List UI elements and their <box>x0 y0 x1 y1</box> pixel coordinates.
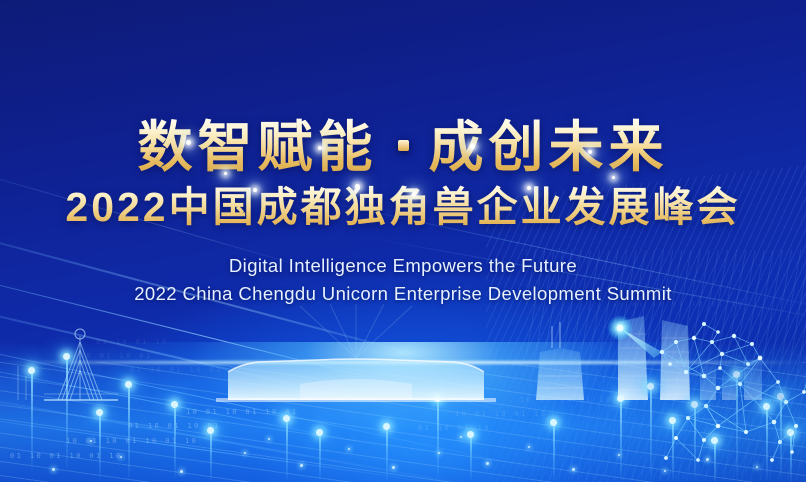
ground-plane <box>0 342 806 482</box>
light-beam <box>386 426 388 480</box>
light-beam <box>286 418 288 480</box>
anshun-bridge <box>44 329 118 400</box>
binary-text: 01 10 01 10 01 10 <box>10 452 122 460</box>
unicorn-node-glows <box>675 337 787 439</box>
light-beam <box>714 440 716 482</box>
light-beam <box>128 384 130 478</box>
ground-perspective-lines <box>0 362 806 482</box>
right-low-buildings <box>700 360 762 400</box>
network-unicorn <box>600 314 806 464</box>
binary-text: 01 10 01 10 <box>96 338 169 346</box>
binary-text: 01 10 01 10 01 <box>128 422 221 430</box>
light-beam <box>174 404 176 478</box>
twin-towers <box>618 316 690 400</box>
summit-poster: 01 10 01 10 01 10 10 01 10 01 10 01 10 0… <box>0 0 806 482</box>
light-beam <box>31 370 33 470</box>
unicorn-nodes <box>660 322 806 462</box>
title-separator-dot <box>398 140 409 151</box>
light-beam <box>437 398 439 478</box>
binary-text: 10 01 10 01 10 01 <box>520 396 632 404</box>
horizon-glow <box>0 361 806 364</box>
light-beam <box>99 412 101 478</box>
subtitle-english-1: Digital Intelligence Empowers the Future <box>0 255 806 277</box>
unicorn-horn <box>607 315 662 358</box>
light-beam <box>470 434 472 480</box>
light-beam <box>210 430 212 480</box>
light-beam <box>319 432 321 480</box>
binary-text: 10 01 10 01 10 01 10 <box>66 437 198 445</box>
main-title-part-2: 成创未来 <box>429 116 669 178</box>
tianfu-sky-pavilion <box>216 359 496 402</box>
light-beam <box>620 398 622 480</box>
light-beam <box>672 420 674 480</box>
main-title: 数智赋能成创未来 <box>0 118 806 177</box>
title-block: 数智赋能成创未来 2022中国成都独角兽企业发展峰会 Digital Intel… <box>0 118 806 305</box>
pavilion-rays <box>300 304 412 358</box>
subtitle-english-2: 2022 China Chengdu Unicorn Enterprise De… <box>0 283 806 305</box>
light-beam <box>766 406 768 480</box>
light-beam <box>553 422 555 480</box>
binary-text: 10 01 10 01 10 <box>455 410 548 418</box>
chengdu-skyline <box>0 304 806 434</box>
binary-text: 01 10 01 10 01 <box>60 352 153 360</box>
unicorn-mesh <box>662 324 806 460</box>
left-pylons <box>18 366 26 400</box>
chengdu-tower <box>536 322 584 400</box>
subtitle-chinese: 2022中国成都独角兽企业发展峰会 <box>0 183 806 232</box>
binary-text: 01 10 01 10 <box>418 424 491 432</box>
binary-text: 01 10 01 10 01 10 <box>130 366 242 374</box>
binary-text: 10 01 10 01 10 01 <box>186 408 298 416</box>
light-beam <box>790 432 792 482</box>
main-title-part-1: 数智赋能 <box>137 116 377 178</box>
light-beam <box>66 356 68 468</box>
